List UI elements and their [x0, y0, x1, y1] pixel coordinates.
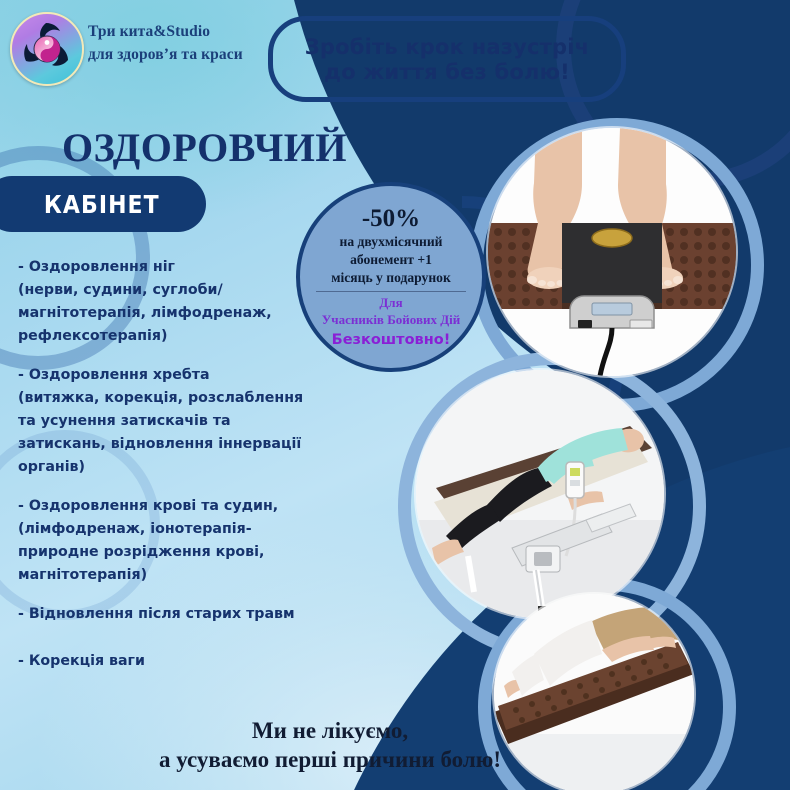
footer-slogan: Ми не лікуємо, а усуваємо перші причини … — [0, 716, 660, 775]
discount-subtitle: на двухмісячний абонемент +1 місяць у по… — [331, 233, 451, 287]
feet-on-massage-mat-photo — [488, 128, 736, 376]
free-label: Безкоштовно! — [332, 332, 451, 348]
footer-slogan-line1: Ми не лікуємо, — [0, 716, 660, 745]
subtitle-pill-label: КАБІНЕТ — [44, 190, 160, 219]
discount-percent: -50% — [362, 206, 420, 232]
headline-banner-line1: Зробіть крок назустріч — [305, 35, 590, 59]
brand-name-line1: Три кита&Studio — [88, 20, 243, 43]
headline-banner: Зробіть крок назустріч до життя без болю… — [268, 16, 626, 102]
veterans-label-line1: Для — [379, 295, 402, 312]
subtitle-pill: КАБІНЕТ — [0, 176, 206, 232]
service-item: - Корекція ваги — [18, 650, 318, 673]
service-item: - Оздоровлення крові та судин, (лімфодре… — [18, 495, 318, 587]
poster-canvas: Три кита&Studio для здоров’я та краси Зр… — [0, 0, 790, 790]
brand-name: Три кита&Studio для здоров’я та краси — [88, 20, 243, 67]
service-item: - Оздоровлення ніг (нерви, судини, сугло… — [18, 256, 318, 348]
service-item: - Оздоровлення хребта (витяжка, корекція… — [18, 364, 318, 479]
brand-name-line2: для здоров’я та краси — [88, 43, 243, 66]
service-item: - Відновлення після старих травм — [18, 603, 318, 626]
services-list: - Оздоровлення ніг (нерви, судини, сугло… — [18, 256, 318, 689]
headline-banner-line2: до життя без болю! — [324, 60, 570, 84]
page-title: ОЗДОРОВЧИЙ — [62, 124, 347, 171]
badge-divider — [316, 291, 466, 292]
yin-yang-orcas-logo-icon — [10, 12, 84, 86]
spinal-traction-bed-photo — [416, 370, 664, 618]
footer-slogan-line2: а усуваємо перші причини болю! — [0, 745, 660, 774]
veterans-label-line2: Учасників Бойових Дій — [322, 312, 461, 329]
discount-badge: -50% на двухмісячний абонемент +1 місяць… — [296, 182, 486, 372]
